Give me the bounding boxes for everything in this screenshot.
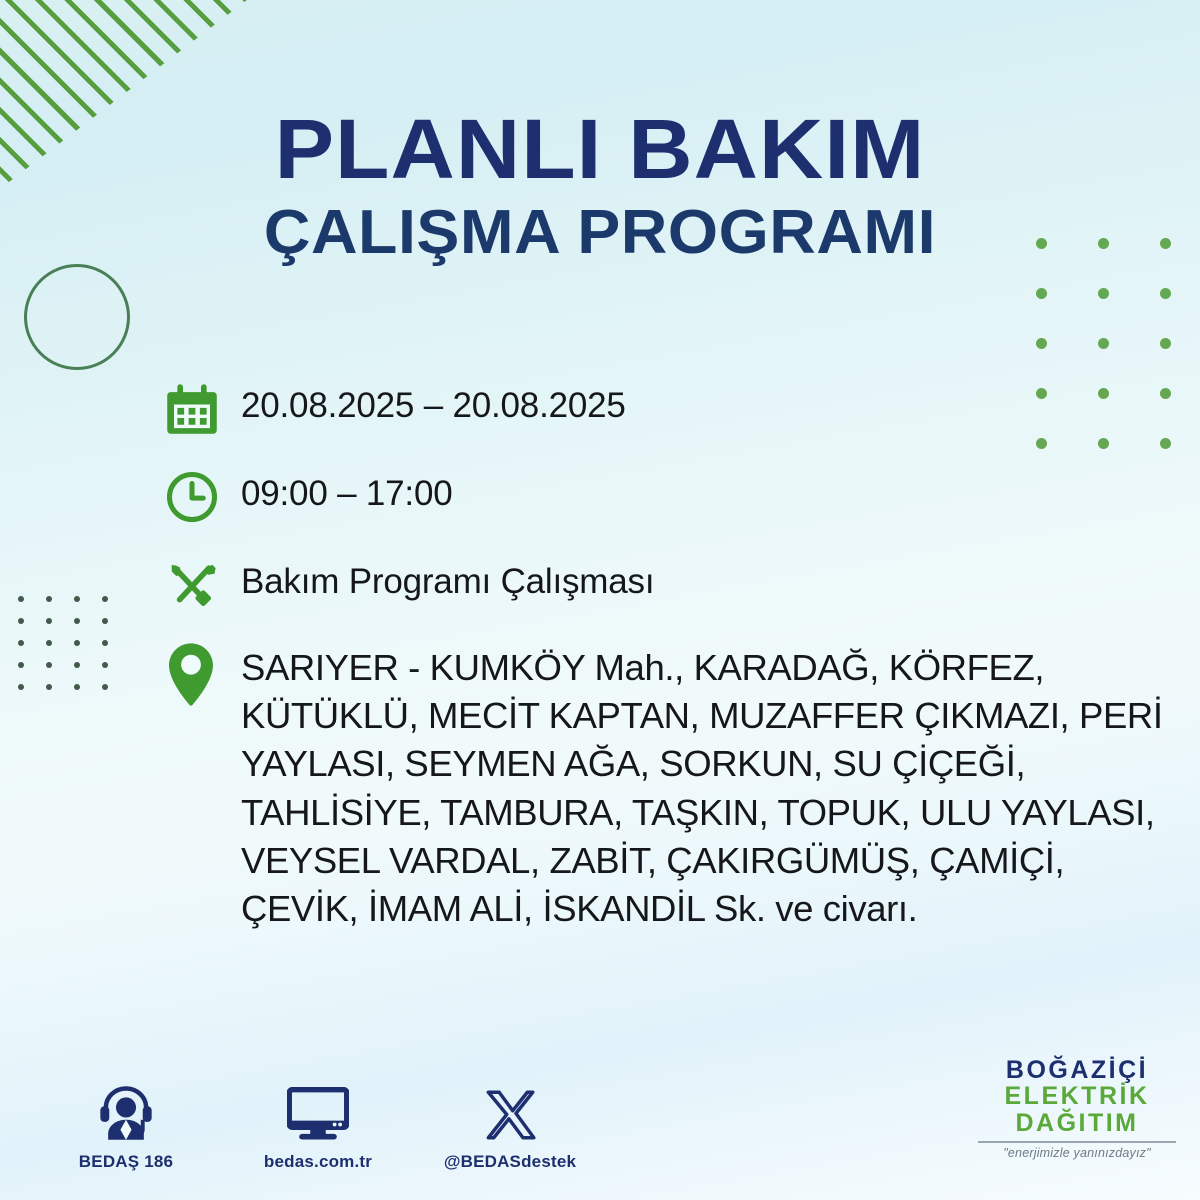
brand-line-bogazici: BOĞAZİÇİ	[972, 1057, 1182, 1084]
contact-phone-label: BEDAŞ 186	[79, 1152, 173, 1172]
tools-icon	[165, 554, 241, 616]
title-main: PLANLI BAKIM	[0, 110, 1200, 190]
contact-website-label: bedas.com.tr	[264, 1152, 372, 1172]
contact-x-label: @BEDASdestek	[444, 1152, 576, 1172]
time-range-text: 09:00 – 17:00	[241, 466, 453, 514]
page-title: PLANLI BAKIM ÇALIŞMA PROGRAMI	[0, 110, 1200, 264]
maintenance-details: 20.08.2025 – 20.08.2025 09:00 – 17:00	[165, 378, 1175, 933]
title-subtitle: ÇALIŞMA PROGRAMI	[0, 202, 1200, 264]
calendar-icon	[165, 378, 241, 440]
affected-areas-text: SARIYER - KUMKÖY Mah., KARADAĞ, KÖRFEZ, …	[241, 642, 1175, 933]
call-center-headset-icon	[97, 1079, 155, 1141]
work-type-text: Bakım Programı Çalışması	[241, 554, 654, 602]
contact-website[interactable]: bedas.com.tr	[248, 1079, 388, 1172]
brand-line-dagitim: DAĞITIM	[972, 1110, 1182, 1137]
x-twitter-icon	[483, 1079, 537, 1141]
detail-row-location: SARIYER - KUMKÖY Mah., KARADAĞ, KÖRFEZ, …	[165, 642, 1175, 933]
date-range-text: 20.08.2025 – 20.08.2025	[241, 378, 626, 426]
brand-divider	[978, 1141, 1176, 1143]
location-pin-icon	[165, 642, 241, 708]
circle-outline-decoration	[24, 264, 130, 370]
detail-row-date: 20.08.2025 – 20.08.2025	[165, 378, 1175, 440]
detail-row-time: 09:00 – 17:00	[165, 466, 1175, 528]
planned-maintenance-poster: PLANLI BAKIM ÇALIŞMA PROGRAMI 20.08.2025…	[0, 0, 1200, 1200]
contact-x-social[interactable]: @BEDASdestek	[440, 1079, 580, 1172]
monitor-icon	[287, 1079, 349, 1141]
brand-tagline: "enerjimizle yanınızdayız"	[972, 1146, 1182, 1160]
bedas-logo: BOĞAZİÇİ ELEKTRİK DAĞITIM "enerjimizle y…	[972, 1057, 1182, 1161]
brand-line-elektrik: ELEKTRİK	[972, 1083, 1182, 1110]
contact-channels: BEDAŞ 186 bedas.com.tr	[56, 1079, 580, 1172]
contact-phone[interactable]: BEDAŞ 186	[56, 1079, 196, 1172]
clock-icon	[165, 466, 241, 528]
detail-row-worktype: Bakım Programı Çalışması	[165, 554, 1175, 616]
dot-grid-left-decoration	[18, 596, 130, 706]
